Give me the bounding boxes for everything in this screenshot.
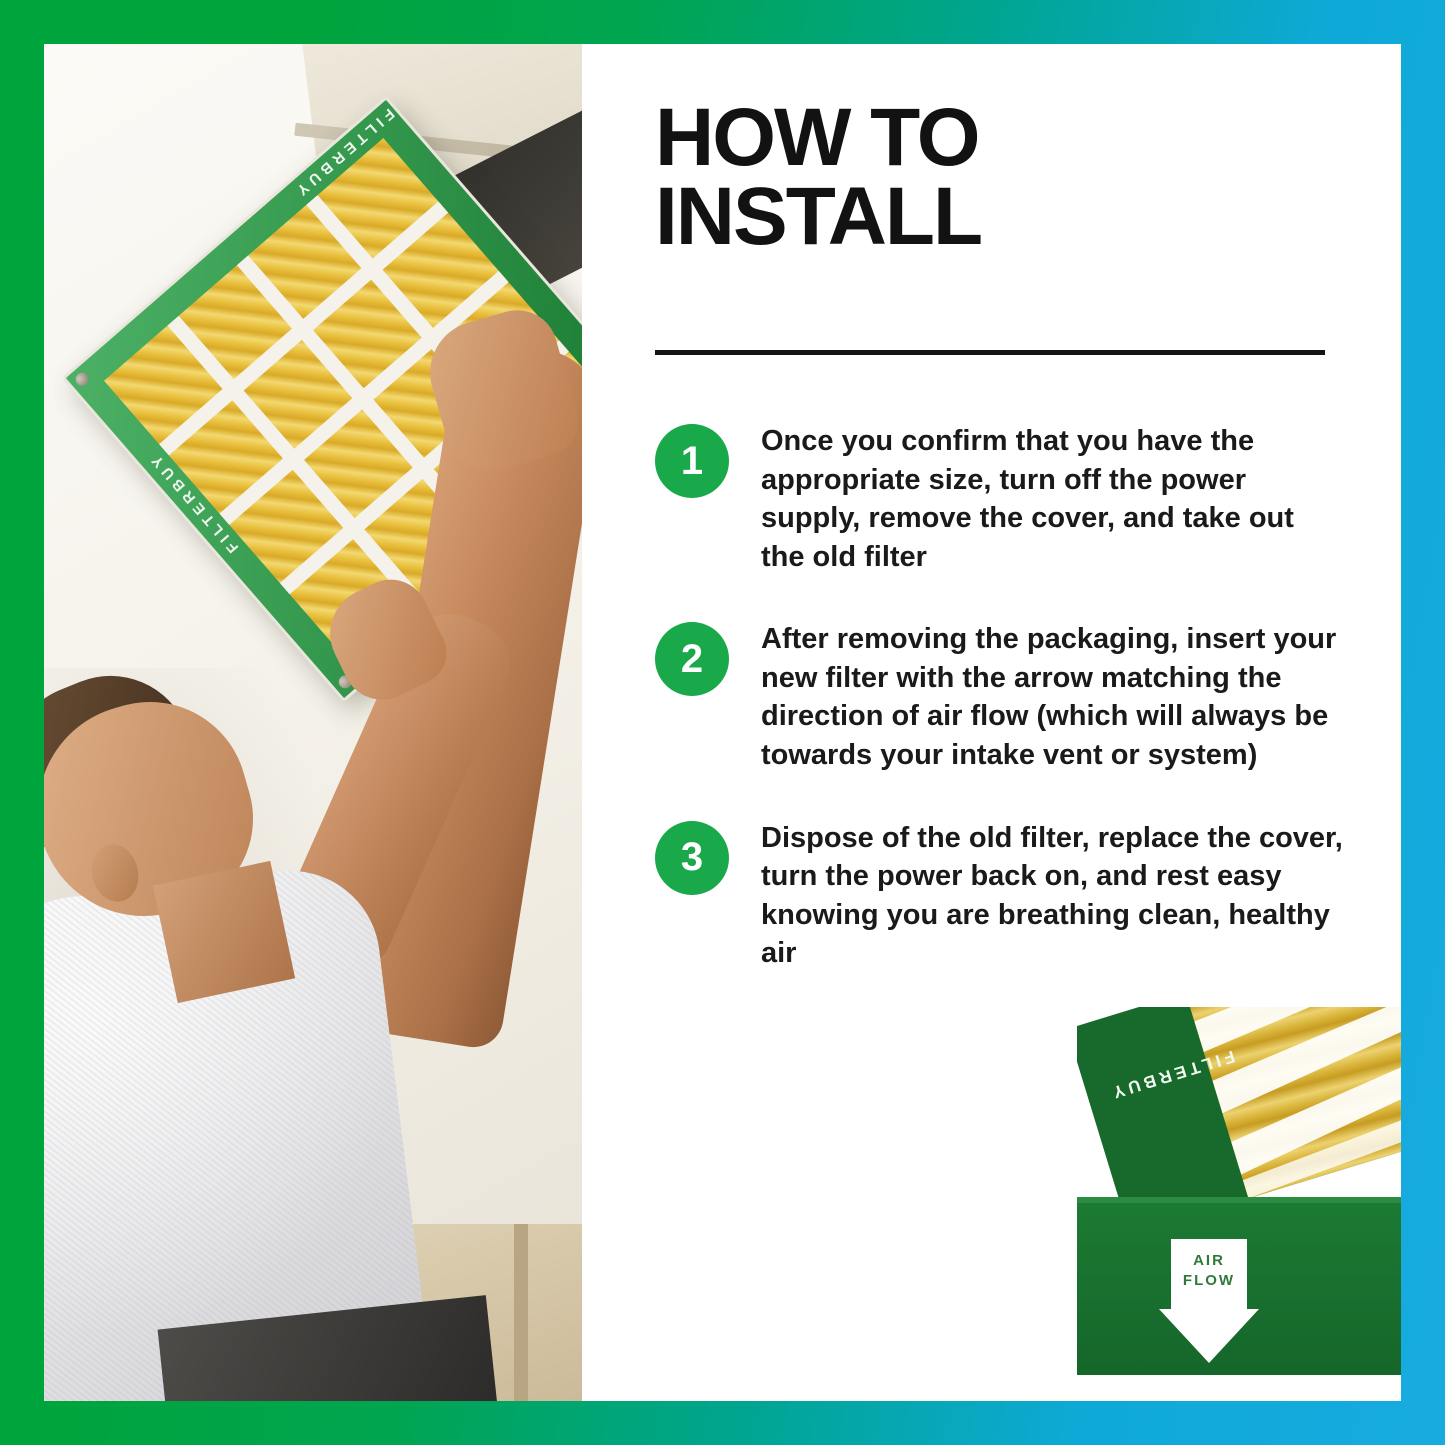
product-pleat-separators xyxy=(1186,1007,1401,1198)
person-neck xyxy=(153,861,295,1003)
door-edge xyxy=(514,1224,528,1401)
product-filter-image: FILTERBUY AIR FLOW xyxy=(1077,1007,1401,1401)
title-line-1: HOW TO xyxy=(655,99,981,178)
step-number-badge-2: 2 xyxy=(655,622,729,696)
step-number-badge-3: 3 xyxy=(655,821,729,895)
step-item-2: 2 After removing the packaging, insert y… xyxy=(655,620,1345,774)
gradient-border-frame: FILTERBUY FILTERBUY HOW TO INSTALL xyxy=(0,0,1445,1445)
air-flow-arrow-icon: AIR FLOW xyxy=(1159,1239,1259,1363)
steps-list: 1 Once you confirm that you have the app… xyxy=(655,422,1345,1017)
title-line-2: INSTALL xyxy=(655,178,981,257)
poster-canvas: FILTERBUY FILTERBUY HOW TO INSTALL xyxy=(44,44,1401,1401)
step-text-1: Once you confirm that you have the appro… xyxy=(761,422,1345,576)
step-item-3: 3 Dispose of the old filter, replace the… xyxy=(655,819,1345,973)
step-item-1: 1 Once you confirm that you have the app… xyxy=(655,422,1345,576)
air-flow-label-line1: AIR xyxy=(1193,1252,1225,1269)
installation-photo: FILTERBUY FILTERBUY xyxy=(44,44,582,1401)
step-number-badge-1: 1 xyxy=(655,424,729,498)
step-text-3: Dispose of the old filter, replace the c… xyxy=(761,819,1345,973)
air-flow-label-line2: FLOW xyxy=(1183,1272,1235,1289)
step-text-2: After removing the packaging, insert you… xyxy=(761,620,1345,774)
page-title: HOW TO INSTALL xyxy=(655,99,981,256)
content-panel: HOW TO INSTALL 1 Once you confirm that y… xyxy=(582,44,1401,1401)
title-divider xyxy=(655,350,1325,355)
